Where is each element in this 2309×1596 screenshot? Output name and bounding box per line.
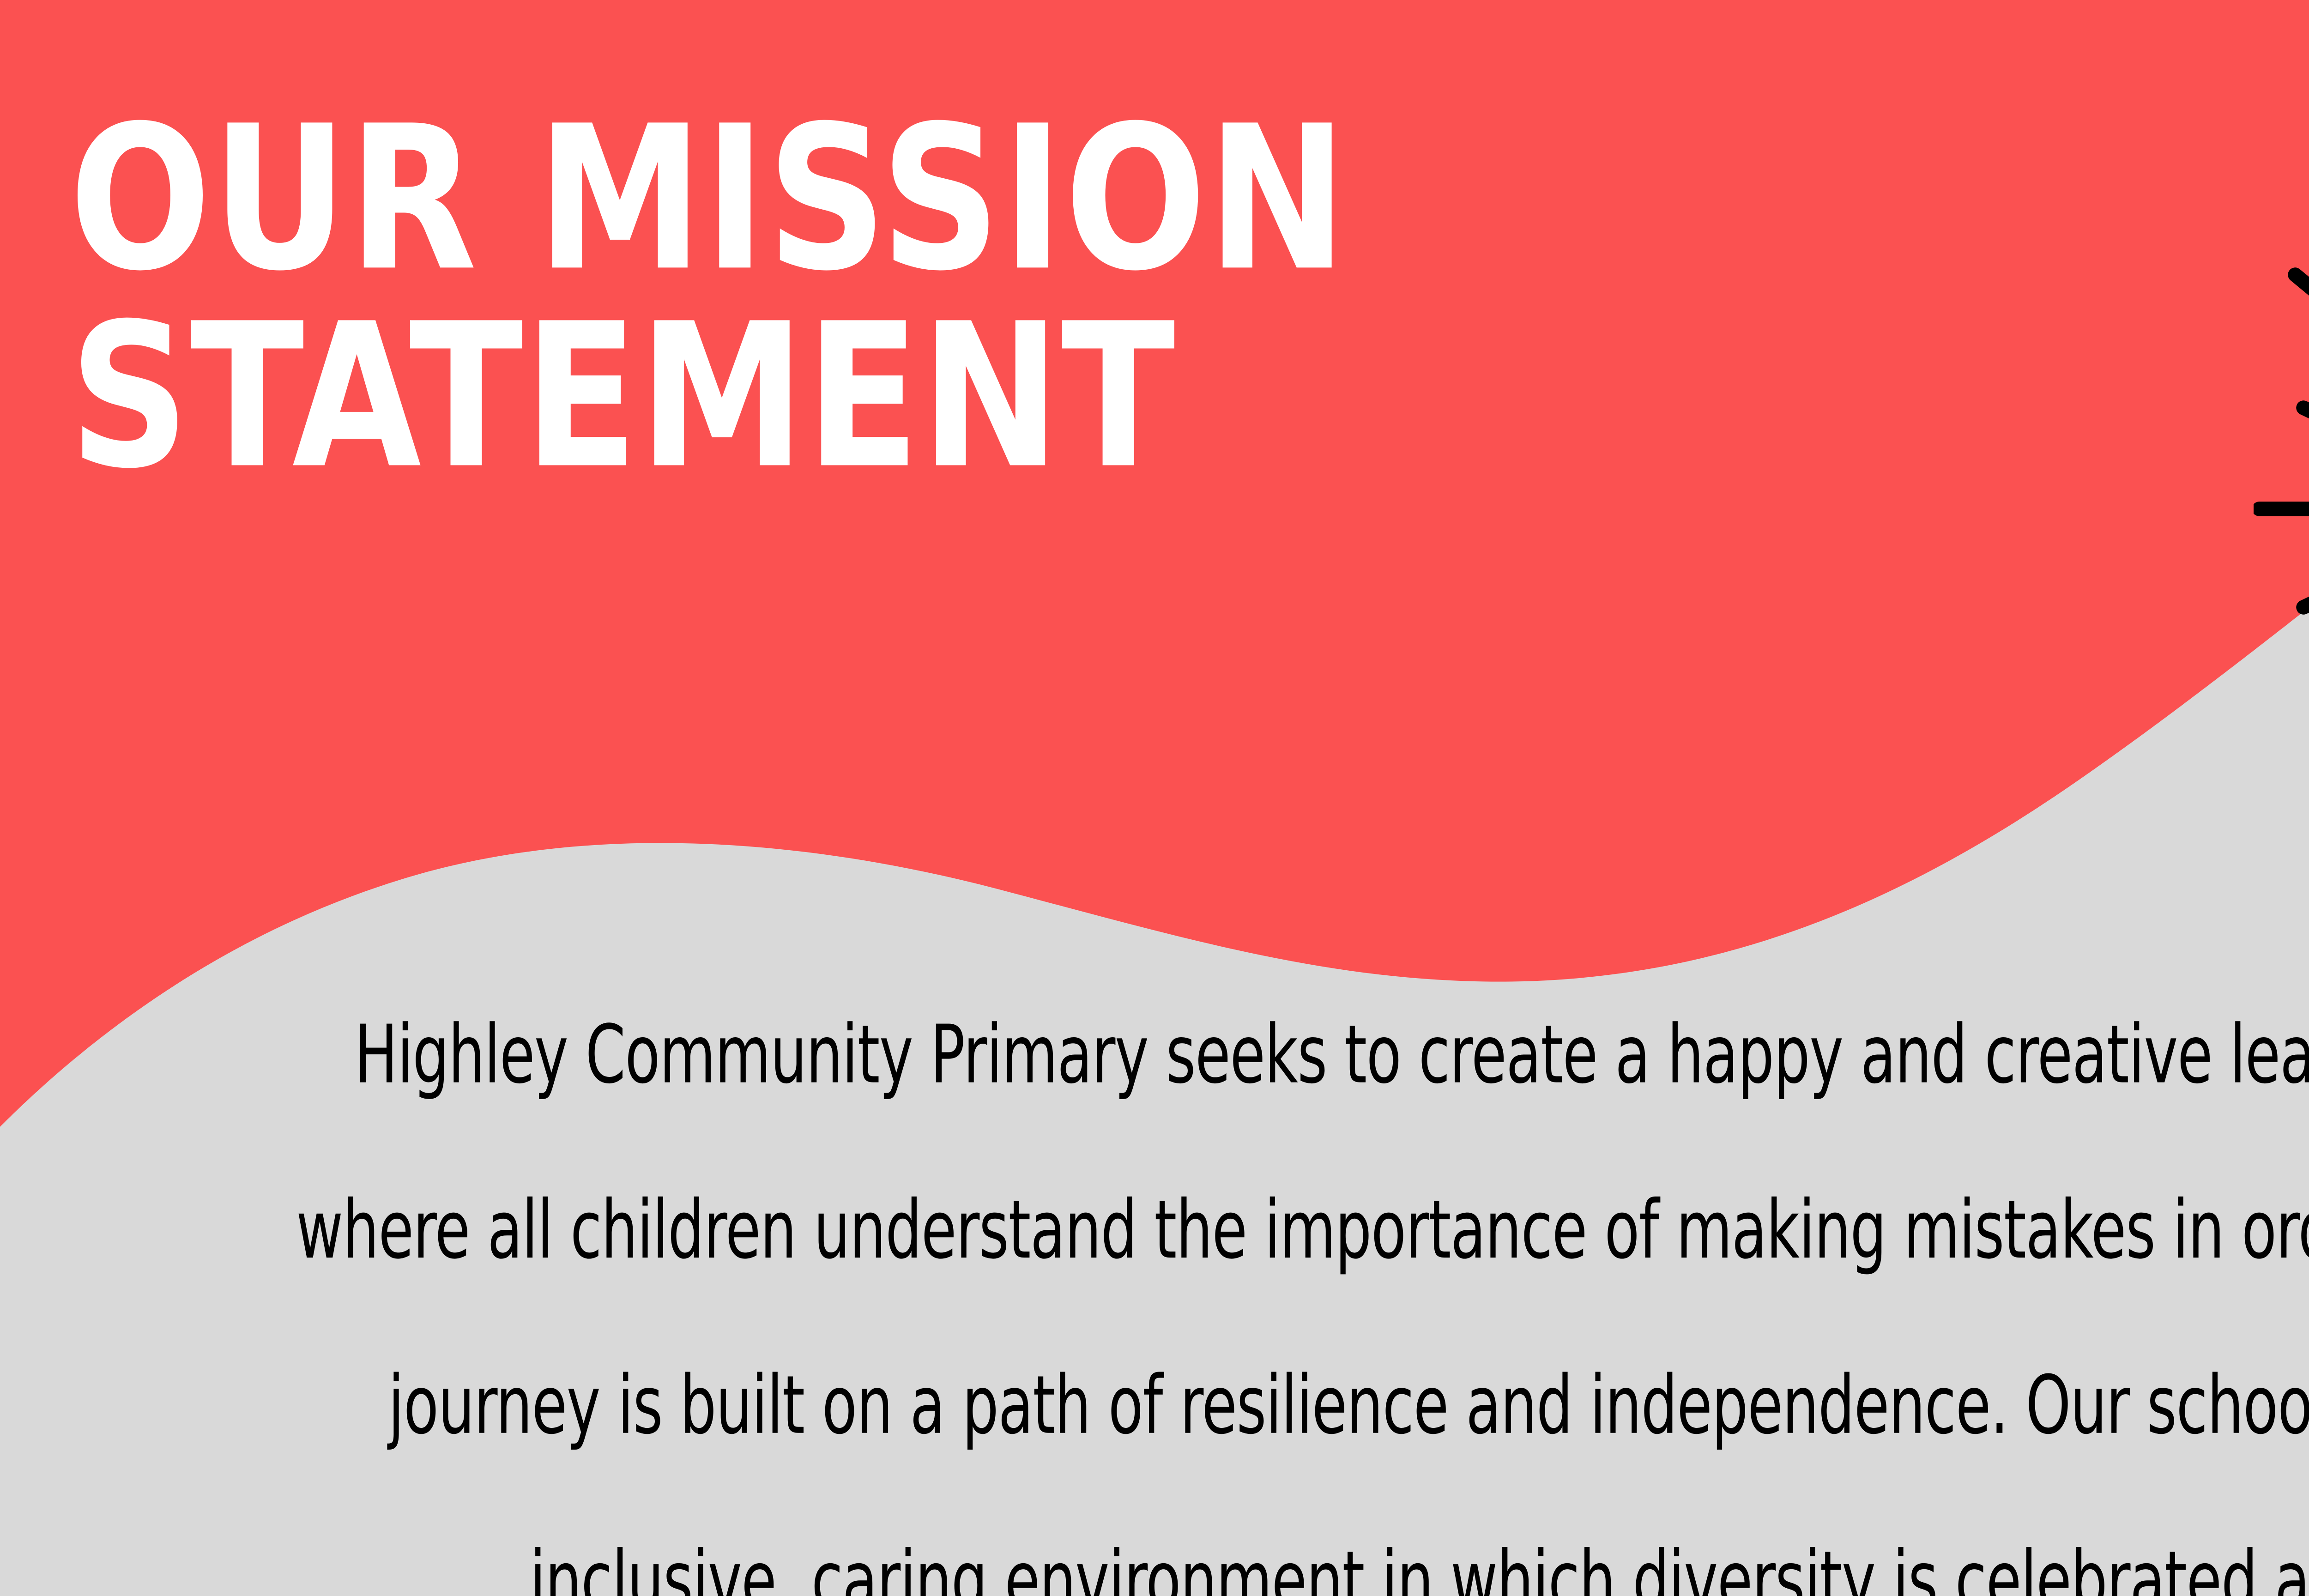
headline-line-2: STATEMENT bbox=[69, 295, 1852, 500]
ray-group bbox=[2259, 59, 2309, 607]
lightbulb-brain-svg bbox=[2254, 46, 2309, 739]
page-title: OUR MISSION STATEMENT bbox=[69, 97, 1870, 492]
mission-statement-text: Highley Community Primary seeks to creat… bbox=[275, 967, 2309, 1596]
headline-line-1: OUR MISSION bbox=[69, 97, 1852, 302]
lightbulb-brain-icon bbox=[2254, 46, 2309, 739]
mission-statement-poster: OUR MISSION STATEMENT bbox=[0, 0, 2309, 1596]
